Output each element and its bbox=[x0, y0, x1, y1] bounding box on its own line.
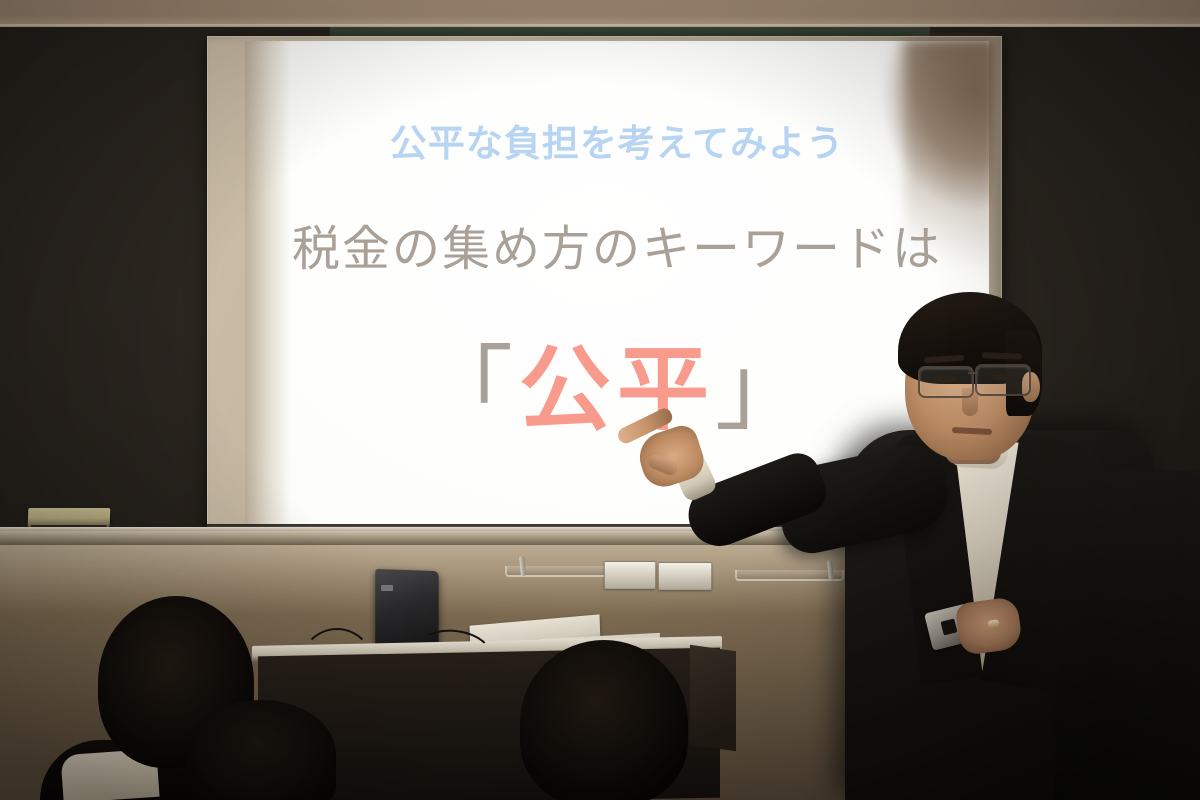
classroom-presentation-photo: 公平な負担を考えてみよう 税金の集め方のキーワードは 「公平」 bbox=[0, 0, 1200, 800]
wall-switch-plate[interactable] bbox=[658, 562, 712, 590]
eyeglasses-bridge bbox=[968, 372, 978, 374]
audience-head bbox=[520, 640, 688, 800]
audience-head bbox=[186, 700, 336, 800]
laptop-logo bbox=[381, 585, 393, 591]
podium-corner bbox=[690, 645, 736, 751]
screen-left-shade bbox=[245, 41, 291, 530]
chalkboard-eraser-icon bbox=[28, 508, 111, 527]
wall-switch-plate[interactable] bbox=[604, 561, 656, 589]
eyeglasses-icon bbox=[975, 364, 1031, 396]
presenter-nose bbox=[962, 388, 978, 416]
presenter-eye bbox=[936, 376, 956, 382]
projector-beam-shadow-secondary bbox=[905, 41, 993, 291]
power-cable bbox=[300, 628, 374, 702]
presenter-eye bbox=[992, 374, 1012, 380]
